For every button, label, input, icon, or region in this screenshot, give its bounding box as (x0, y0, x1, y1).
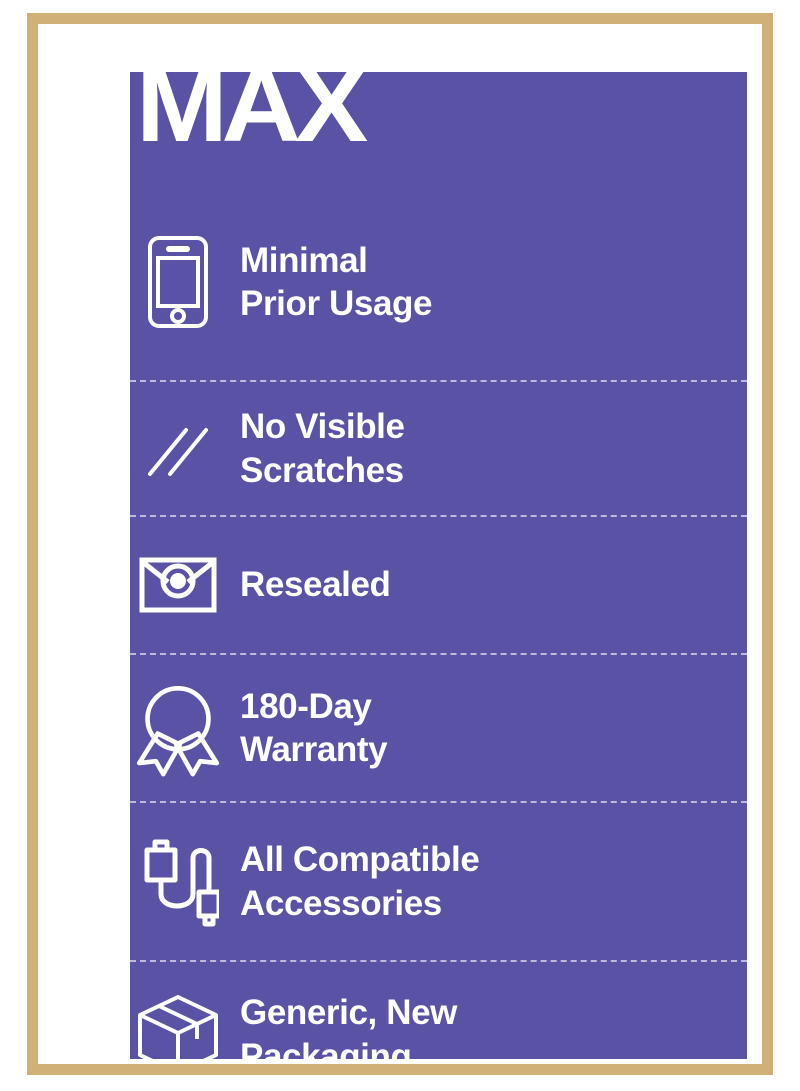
feature-row: All Compatible Accessories (130, 801, 747, 960)
feature-row: Resealed (130, 515, 747, 653)
smartphone-icon (130, 234, 226, 330)
feature-label: Minimal Prior Usage (240, 239, 432, 326)
feature-row: No Visible Scratches (130, 380, 747, 515)
award-ribbon-icon (130, 676, 226, 780)
brand-wordmark: MAX (136, 72, 362, 158)
feature-row: Generic, New Packaging (130, 960, 747, 1059)
feature-label: 180-Day Warranty (240, 685, 387, 772)
feature-list: Minimal Prior Usage No Visible Scratches (130, 184, 747, 1059)
feature-row: 180-Day Warranty (130, 653, 747, 801)
poster: MAX Minimal Prior Usage (0, 0, 800, 1091)
scratches-icon (130, 416, 226, 482)
usb-cable-icon (130, 834, 226, 930)
sealed-envelope-icon (130, 554, 226, 616)
feature-panel: MAX Minimal Prior Usage (130, 72, 747, 1059)
feature-label: Generic, New Packaging (240, 991, 457, 1059)
gold-frame-border: MAX Minimal Prior Usage (27, 13, 773, 1075)
feature-row: Minimal Prior Usage (130, 184, 747, 380)
feature-label: No Visible Scratches (240, 405, 405, 492)
feature-label: All Compatible Accessories (240, 838, 479, 925)
feature-label: Resealed (240, 563, 391, 606)
shipping-box-icon (130, 991, 226, 1060)
